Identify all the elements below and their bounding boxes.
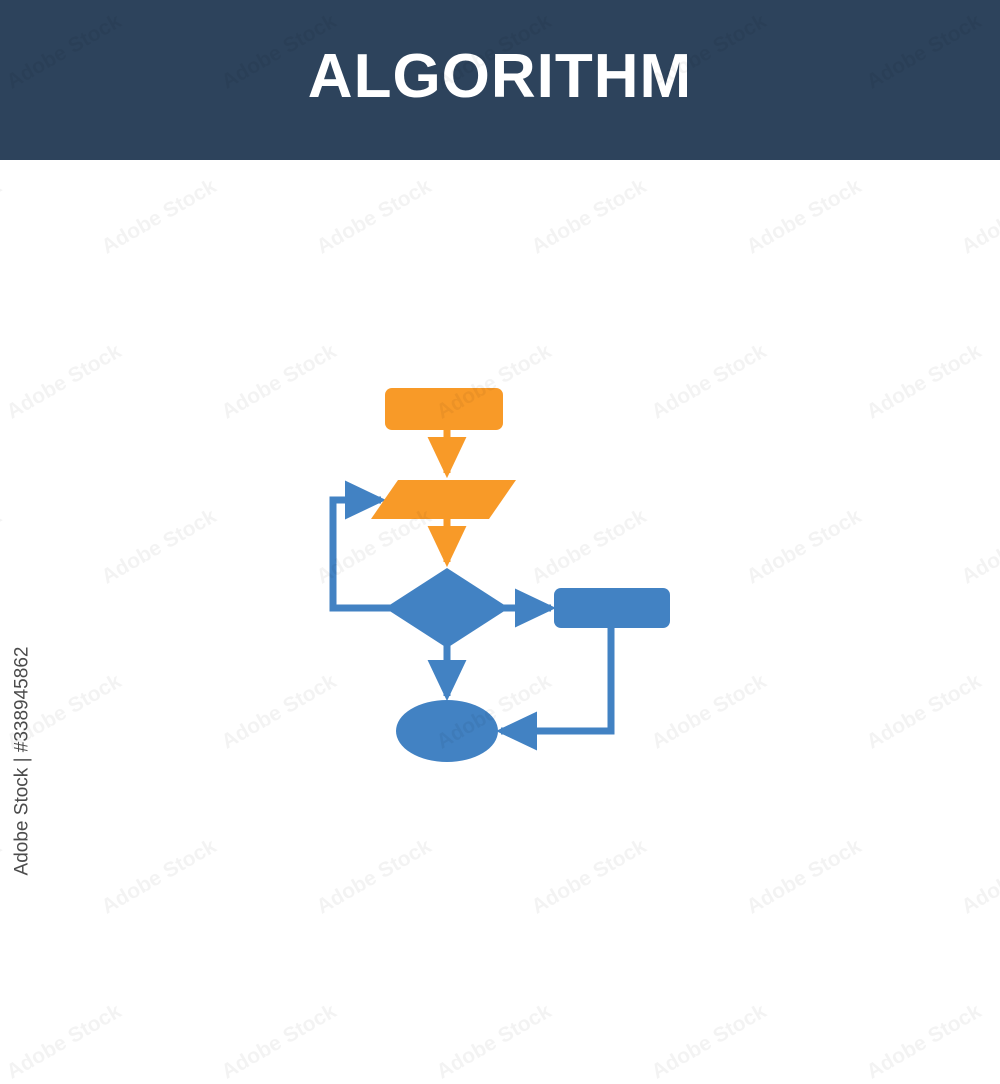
illustration-area: [0, 160, 1000, 1000]
page-title: ALGORITHM: [308, 46, 692, 114]
watermark-tile: Adobe Stock: [218, 1000, 341, 1084]
illustration-canvas: ALGORITHM: [0, 0, 1000, 1000]
flowchart-diagram: [0, 160, 1000, 1000]
node-input-data: [371, 480, 516, 519]
connector-alternate-to-end: [501, 622, 611, 731]
node-alternate-process: [554, 588, 670, 628]
watermark-tile: Adobe Stock: [433, 1000, 556, 1084]
node-start-process: [385, 388, 503, 430]
watermark-tile: Adobe Stock: [863, 1000, 986, 1084]
node-terminator-end: [396, 700, 498, 762]
watermark-tile: Adobe Stock: [3, 1000, 126, 1084]
header-banner: ALGORITHM: [0, 0, 1000, 160]
node-decision: [385, 568, 509, 648]
watermark-tile: Adobe Stock: [648, 1000, 771, 1084]
